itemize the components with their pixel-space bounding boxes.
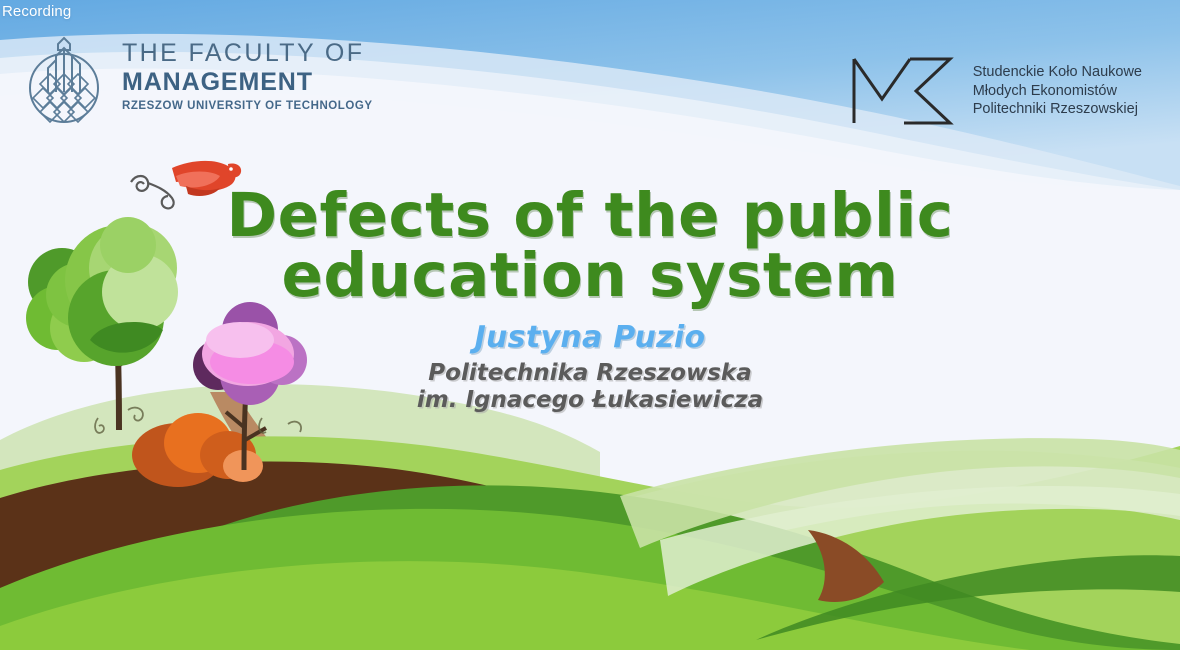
m-sigma-monogram-icon — [848, 55, 956, 127]
title-block: Defects of the public education system J… — [0, 186, 1180, 415]
author-name: Justyna Puzio — [0, 320, 1180, 355]
page-title: Defects of the public education system — [0, 186, 1180, 307]
faculty-logo-line3: RZESZOW UNIVERSITY OF TECHNOLOGY — [122, 101, 373, 113]
rzeszow-university-crest-icon — [20, 26, 108, 126]
presentation-slide: Recording — [0, 0, 1180, 650]
author-affiliation-line1: Politechnika Rzeszowska — [0, 360, 1180, 388]
student-club-line2: Młodych Ekonomistów — [973, 82, 1142, 101]
student-club-line1: Studenckie Koło Naukowe — [973, 63, 1142, 82]
page-title-line1: Defects of the public — [0, 186, 1180, 246]
recording-indicator-label: Recording — [2, 3, 71, 20]
student-club-line3: Politechniki Rzeszowskiej — [973, 100, 1142, 119]
faculty-logo-line1: THE FACULTY OF — [122, 41, 373, 66]
author-affiliation-line2: im. Ignacego Łukasiewicza — [0, 387, 1180, 415]
faculty-logo: THE FACULTY OF MANAGEMENT RZESZOW UNIVER… — [20, 26, 373, 126]
author-affiliation: Politechnika Rzeszowska im. Ignacego Łuk… — [0, 360, 1180, 415]
page-title-line2: education system — [0, 246, 1180, 306]
faculty-logo-line2: MANAGEMENT — [122, 70, 373, 95]
student-club-logo: Studenckie Koło Naukowe Młodych Ekonomis… — [848, 55, 1142, 127]
